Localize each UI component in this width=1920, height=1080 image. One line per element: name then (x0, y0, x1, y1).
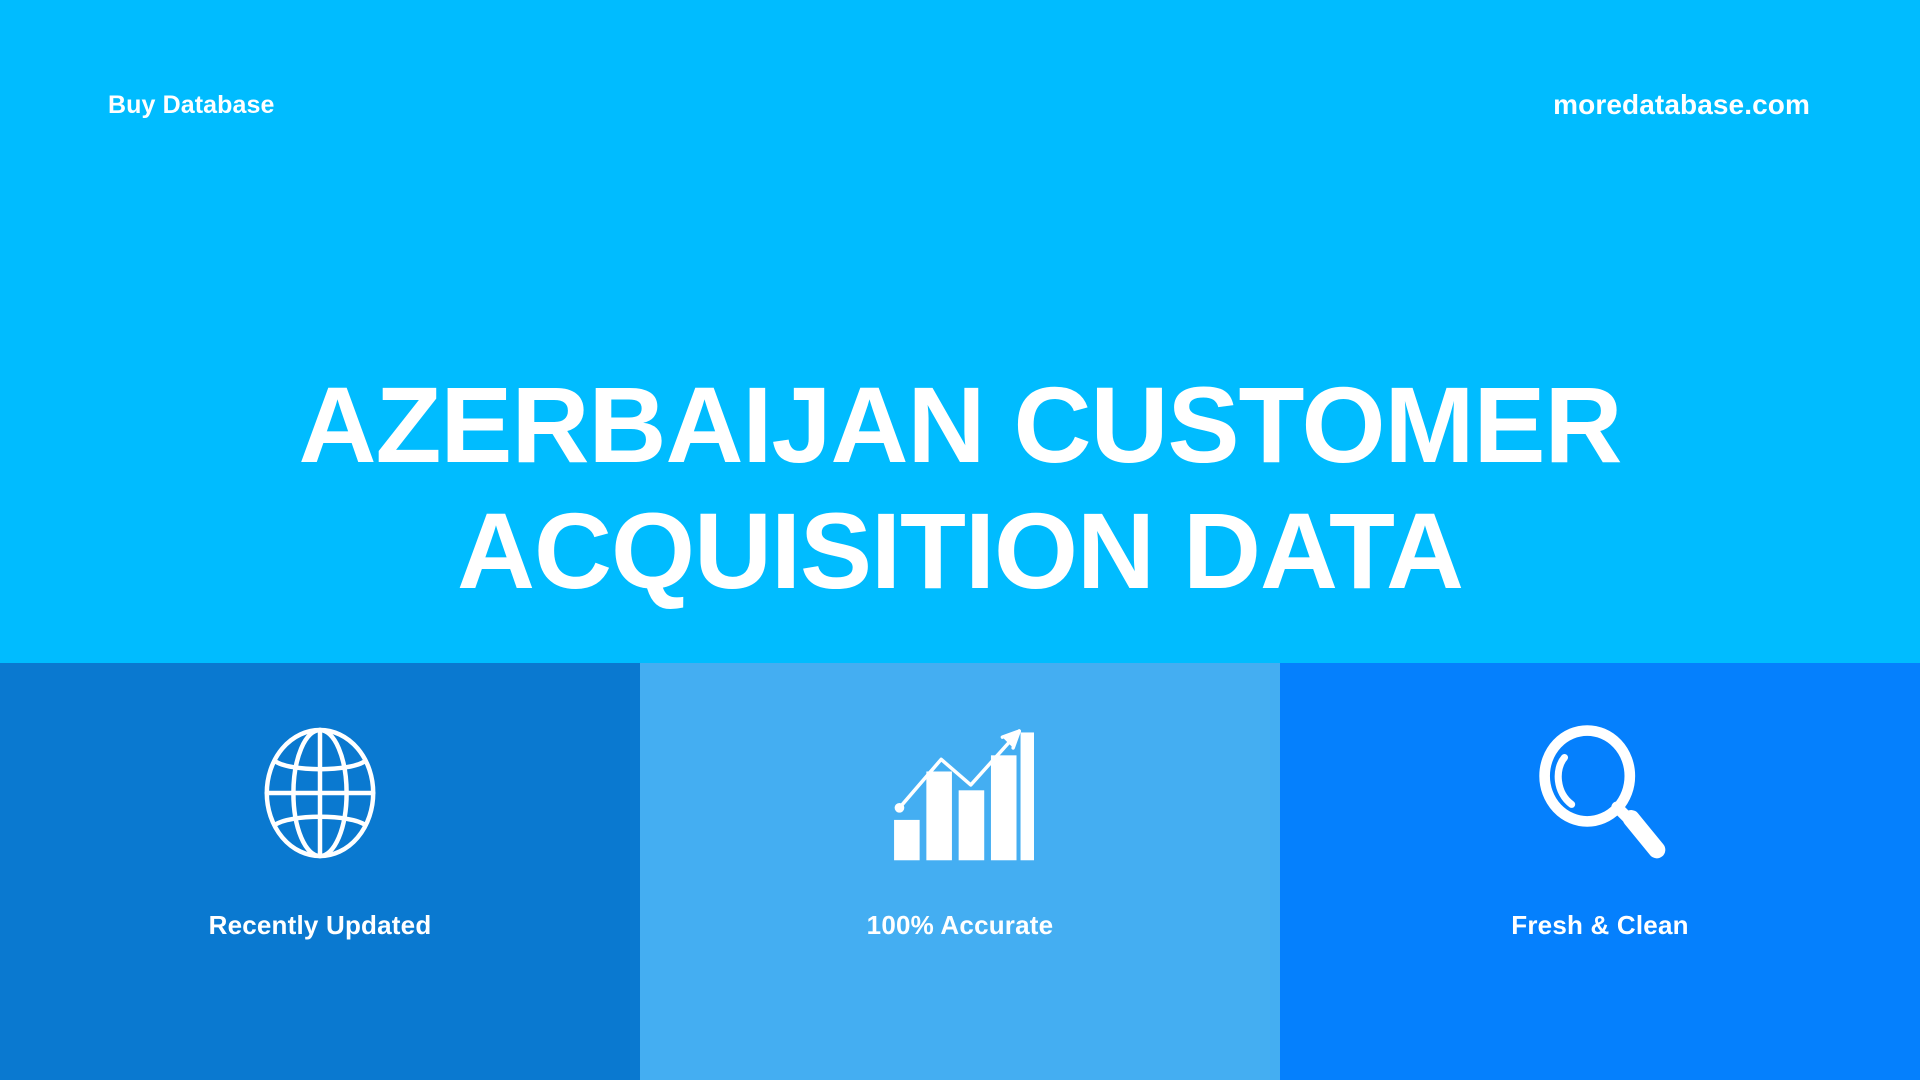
page-title: AZERBAIJAN CUSTOMER ACQUISITION DATA (0, 362, 1920, 613)
feature-panels: Recently Updated (0, 663, 1920, 1080)
magnifying-glass-icon (1525, 718, 1675, 868)
page-title-line-2: ACQUISITION DATA (0, 488, 1920, 613)
globe-icon (245, 718, 395, 868)
bar-chart-growth-icon (885, 718, 1035, 868)
feature-label-accurate: 100% Accurate (867, 912, 1054, 938)
promo-banner: Buy Database moredatabase.com AZERBAIJAN… (0, 0, 1920, 1080)
feature-label-fresh-clean: Fresh & Clean (1511, 912, 1688, 938)
feature-label-recently-updated: Recently Updated (209, 912, 432, 938)
feature-panel-fresh-clean: Fresh & Clean (1280, 663, 1920, 1080)
page-title-line-1: AZERBAIJAN CUSTOMER (0, 362, 1920, 487)
feature-panel-recently-updated: Recently Updated (0, 663, 640, 1080)
feature-panel-accurate: 100% Accurate (640, 663, 1280, 1080)
brand-left-label: Buy Database (108, 93, 275, 118)
hero-section: Buy Database moredatabase.com AZERBAIJAN… (0, 0, 1920, 663)
website-url-label: moredatabase.com (1553, 91, 1810, 119)
hero-topbar: Buy Database moredatabase.com (0, 0, 1920, 210)
